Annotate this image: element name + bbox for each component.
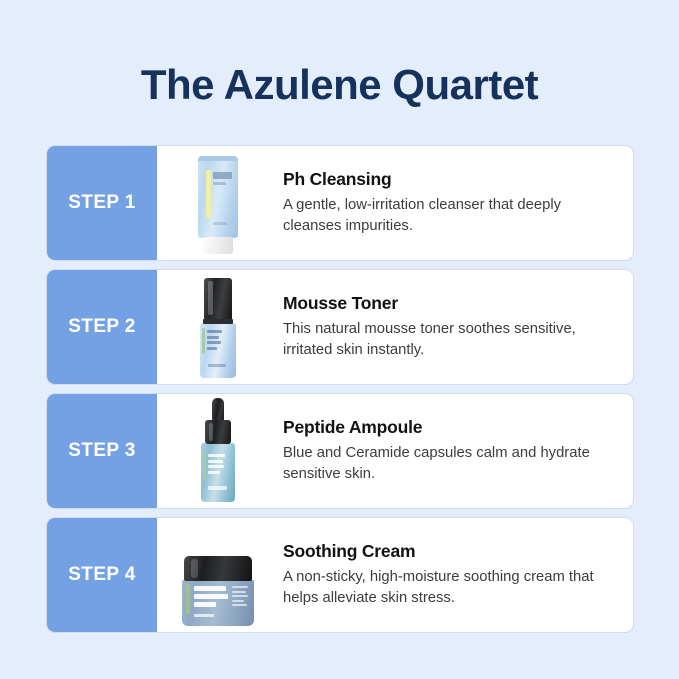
step-product-image-2 [157,270,279,384]
step-card-2[interactable]: STEP 2 Mousse Toner This natural mousse … [46,269,634,385]
step-badge-2: STEP 2 [47,270,157,384]
step-card-3[interactable]: STEP 3 Peptide Ampoule Blue and Ceramide… [46,393,634,509]
step-description-3: Blue and Ceramide capsules calm and hydr… [283,443,613,485]
step-product-image-3 [157,394,279,508]
soothing-cream-jar-icon [182,556,254,626]
step-badge-label-2: STEP 2 [68,316,136,338]
step-description-1: A gentle, low-irritation cleanser that d… [283,195,613,237]
step-badge-3: STEP 3 [47,394,157,508]
step-text-4: Soothing Cream A non-sticky, high-moistu… [279,518,633,632]
step-description-4: A non-sticky, high-moisture soothing cre… [283,567,613,609]
page-title: The Azulene Quartet [0,60,679,110]
cleanser-tube-icon [195,156,241,254]
step-title-2: Mousse Toner [283,293,619,314]
step-title-1: Ph Cleansing [283,169,619,190]
step-text-2: Mousse Toner This natural mousse toner s… [279,270,633,384]
step-product-image-1 [157,146,279,260]
ampoule-dropper-bottle-icon [195,398,241,502]
step-badge-label-4: STEP 4 [68,564,136,586]
step-badge-label-1: STEP 1 [68,192,136,214]
step-product-image-4 [157,518,279,632]
step-title-3: Peptide Ampoule [283,417,619,438]
step-card-1[interactable]: STEP 1 Ph Cleansing A gentle, low-irrita… [46,145,634,261]
step-title-4: Soothing Cream [283,541,619,562]
step-text-1: Ph Cleansing A gentle, low-irritation cl… [279,146,633,260]
step-description-2: This natural mousse toner soothes sensit… [283,319,613,361]
mousse-toner-bottle-icon [194,278,242,378]
step-badge-1: STEP 1 [47,146,157,260]
steps-list: STEP 1 Ph Cleansing A gentle, low-irrita… [46,145,634,641]
step-text-3: Peptide Ampoule Blue and Ceramide capsul… [279,394,633,508]
step-card-4[interactable]: STEP 4 Soothing Cream A non-sticky, high… [46,517,634,633]
step-badge-4: STEP 4 [47,518,157,632]
step-badge-label-3: STEP 3 [68,440,136,462]
infographic-page: The Azulene Quartet STEP 1 Ph Cleansing [0,0,679,679]
